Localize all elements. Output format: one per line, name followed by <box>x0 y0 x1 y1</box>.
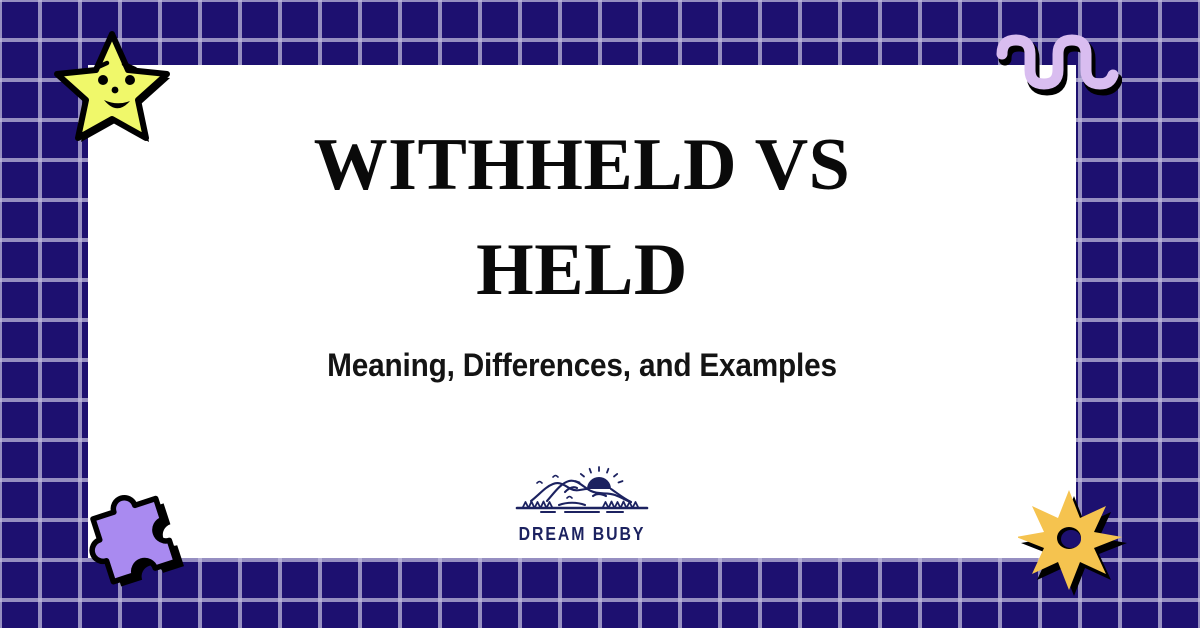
puzzle-piece-icon <box>72 482 192 607</box>
poster-canvas: WITHHELD VS HELD Meaning, Differences, a… <box>0 0 1200 628</box>
content-card: WITHHELD VS HELD Meaning, Differences, a… <box>88 65 1076 558</box>
title-line-2: HELD <box>88 218 1076 323</box>
page-subtitle: Meaning, Differences, and Examples <box>327 347 837 384</box>
page-title: WITHHELD VS HELD <box>88 113 1076 323</box>
title-line-1: WITHHELD VS <box>88 113 1076 218</box>
squiggle-wave-icon <box>992 28 1122 105</box>
eight-point-burst-icon <box>1018 486 1130 603</box>
mountain-sun-lake-icon <box>502 465 662 522</box>
brand-name: DREAM BUBY <box>512 524 653 545</box>
smiling-star-icon <box>52 28 172 153</box>
brand-logo: DREAM BUBY <box>502 465 662 545</box>
